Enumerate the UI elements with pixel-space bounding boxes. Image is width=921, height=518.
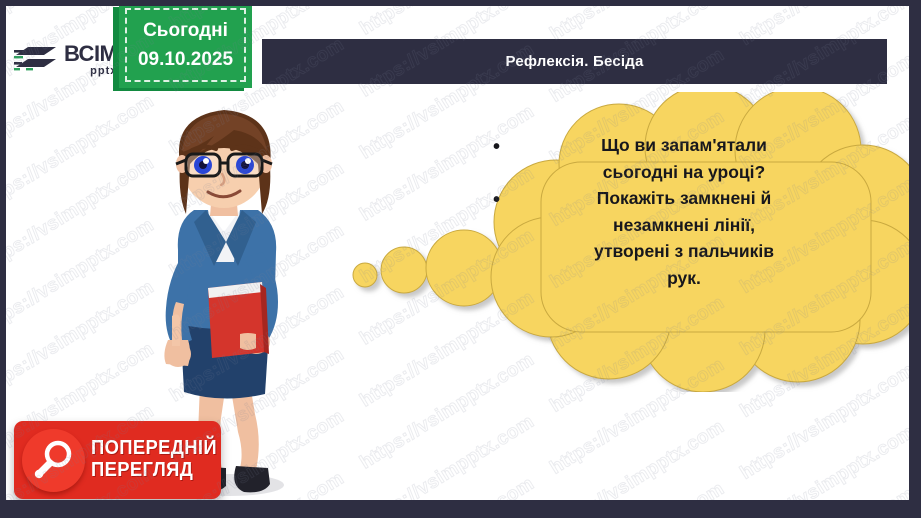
preview-line-2: ПЕРЕГЛЯД bbox=[91, 460, 217, 482]
bubble-line: утворені з пальчиків bbox=[519, 238, 849, 265]
logo-main-text: ВСІМ bbox=[64, 43, 117, 65]
date-badge-label: Сьогодні bbox=[143, 16, 228, 45]
bullet-dot: • bbox=[493, 186, 500, 215]
brand-logo[interactable]: ВСІМ pptx bbox=[14, 35, 129, 85]
preview-button[interactable]: ПОПЕРЕДНІЙ ПЕРЕГЛЯД bbox=[14, 421, 221, 499]
slide-canvas: •Що ви запам'ятали сьогодні на уроці? •П… bbox=[6, 6, 909, 500]
thought-bubble: •Що ви запам'ятали сьогодні на уроці? •П… bbox=[351, 92, 909, 392]
page-title: Рефлексія. Бесіда bbox=[505, 53, 643, 70]
preview-button-label: ПОПЕРЕДНІЙ ПЕРЕГЛЯД bbox=[91, 438, 228, 481]
graduation-cap-icon bbox=[14, 40, 60, 80]
bubble-line: рук. bbox=[519, 265, 849, 292]
bullet-dot: • bbox=[493, 133, 500, 162]
header-bar: Рефлексія. Бесіда bbox=[262, 39, 887, 84]
slide-frame: •Що ви запам'ятали сьогодні на уроці? •П… bbox=[0, 0, 921, 518]
logo-sub-text: pptx bbox=[90, 66, 117, 77]
bubble-line: сьогодні на уроці? bbox=[519, 159, 849, 186]
bubble-line: •Покажіть замкнені й bbox=[519, 185, 849, 212]
bubble-line: •Що ви запам'ятали bbox=[519, 132, 849, 159]
date-badge-date: 09.10.2025 bbox=[138, 45, 233, 74]
thought-bubble-text: •Що ви запам'ятали сьогодні на уроці? •П… bbox=[519, 132, 849, 292]
date-badge: Сьогодні 09.10.2025 bbox=[119, 6, 252, 88]
magnifier-icon bbox=[22, 429, 85, 492]
bubble-line: незамкнені лінії, bbox=[519, 212, 849, 239]
logo-wordmark: ВСІМ pptx bbox=[64, 43, 117, 77]
preview-line-1: ПОПЕРЕДНІЙ bbox=[91, 438, 217, 460]
